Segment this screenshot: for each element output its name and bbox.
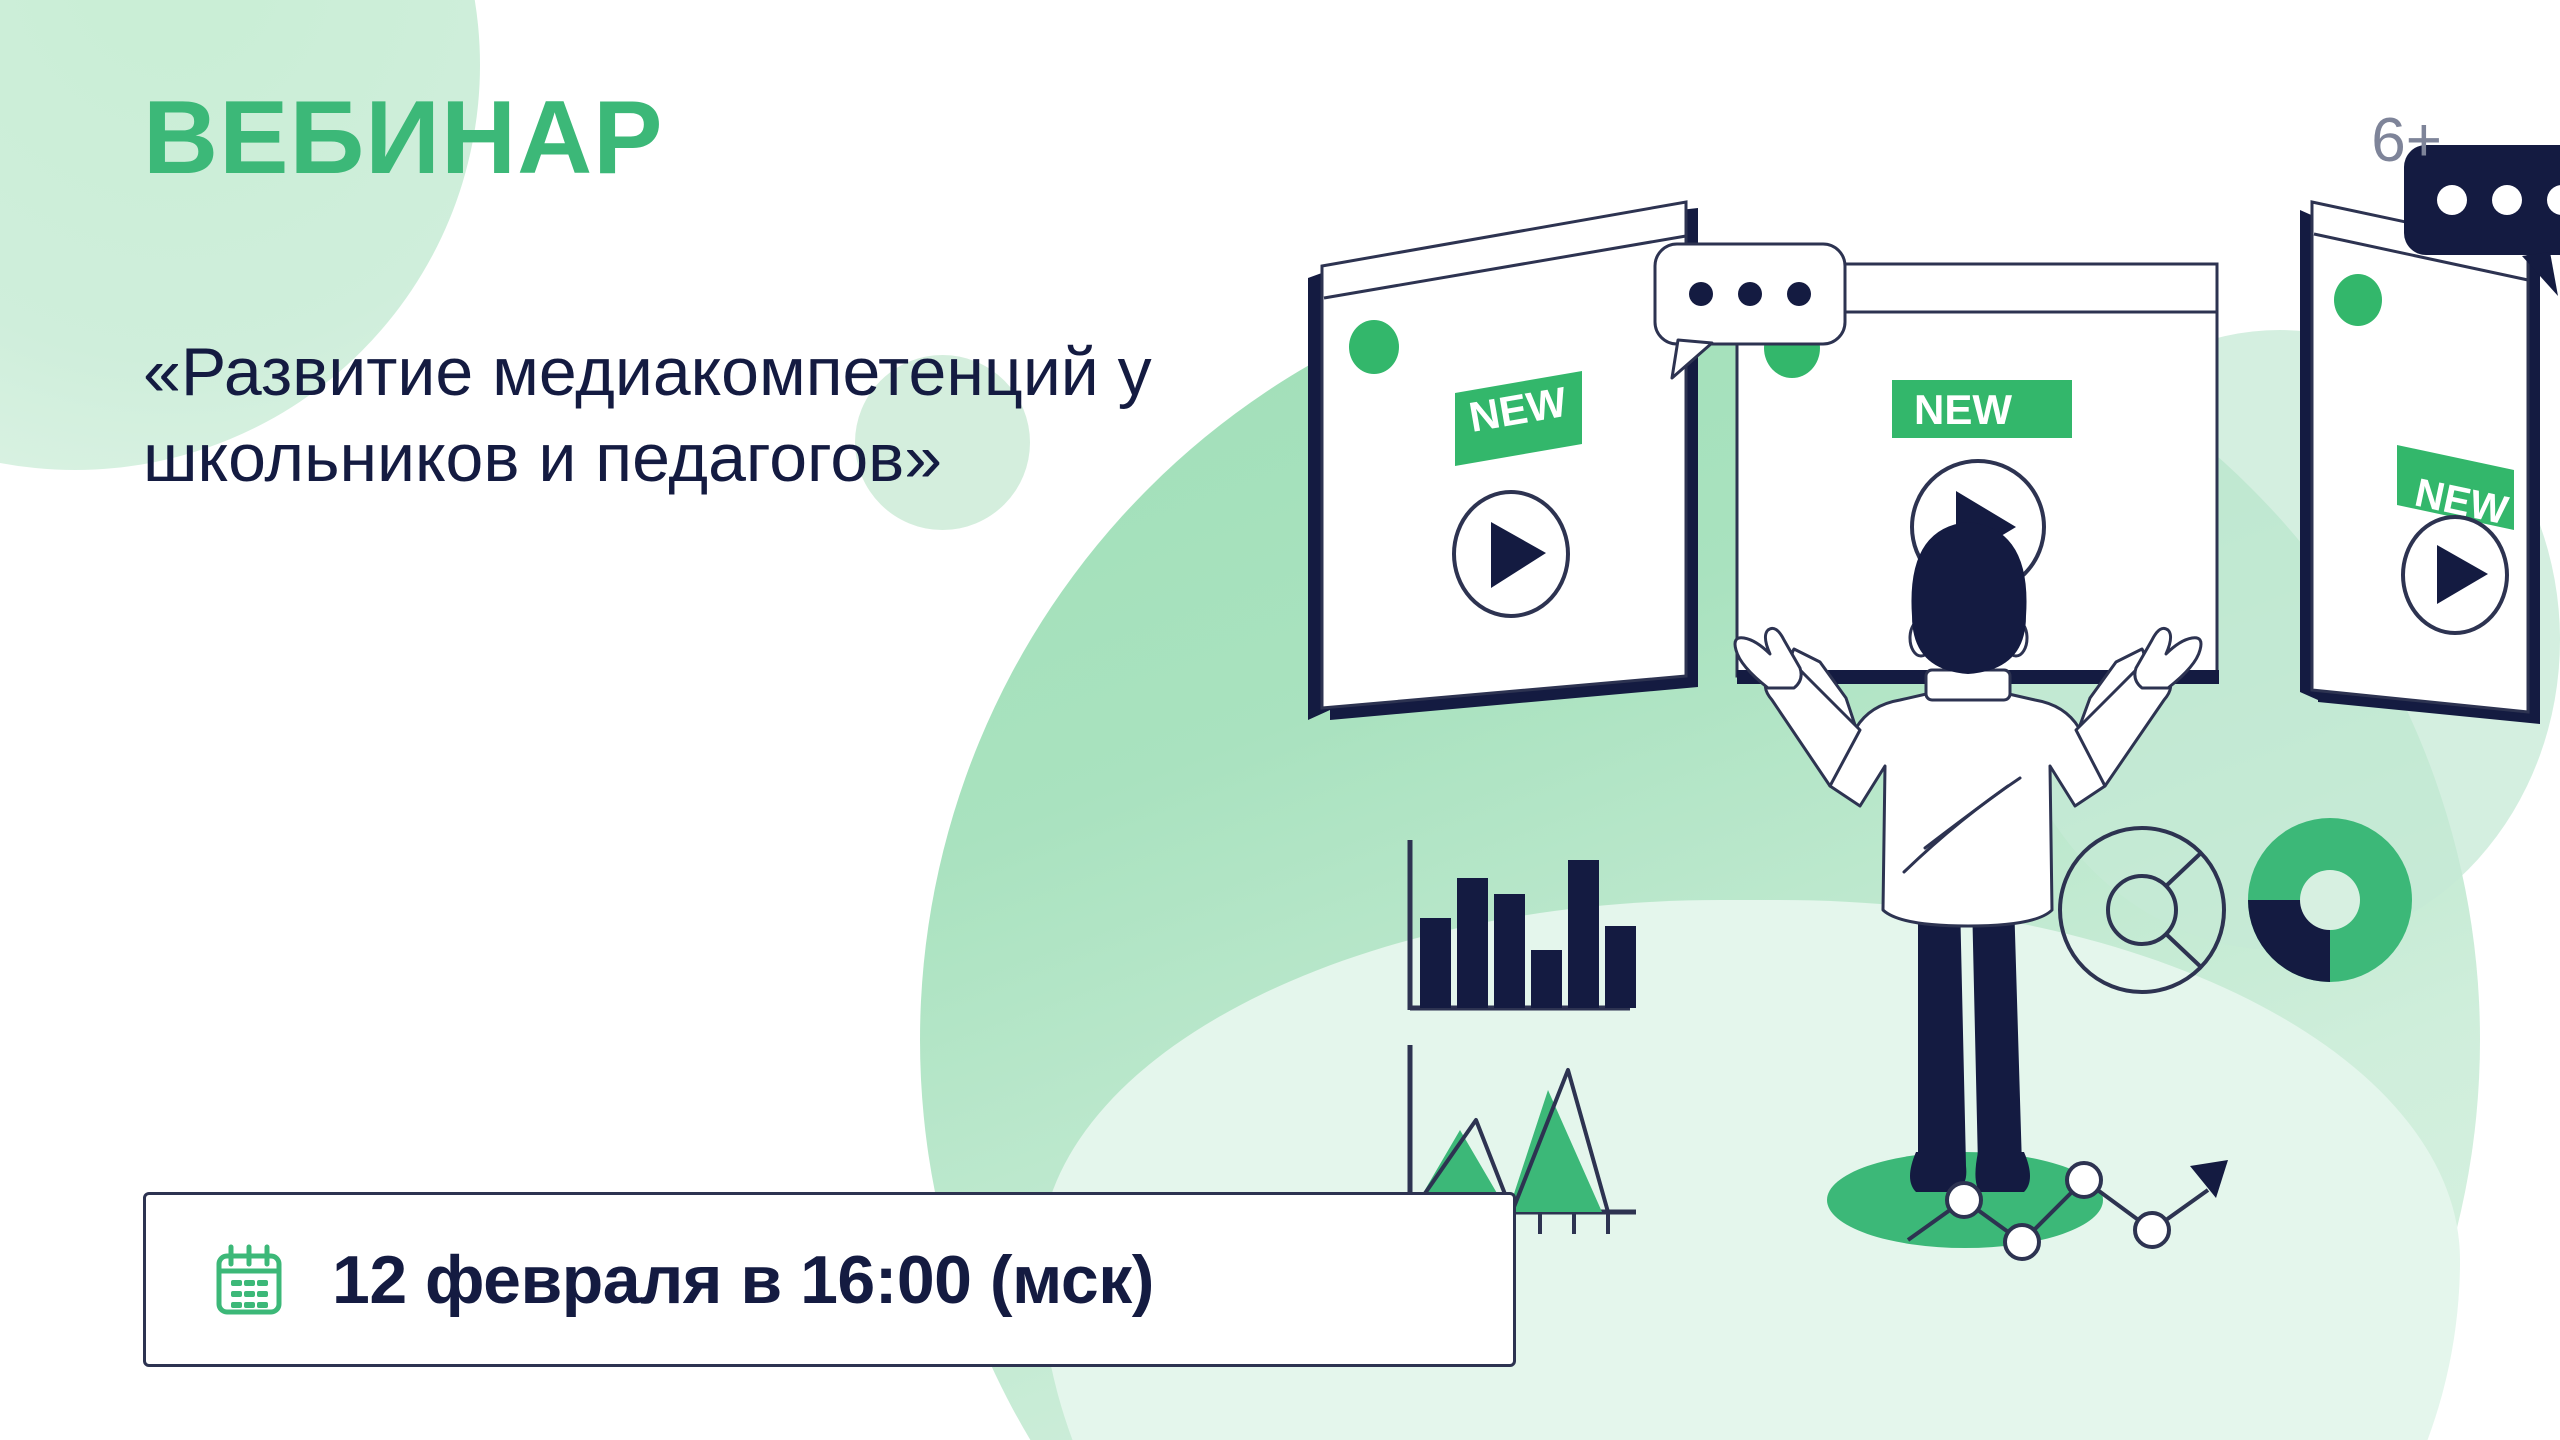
page-kicker: ВЕБИНАР	[143, 86, 664, 190]
event-date-text: 12 февраля в 16:00 (мск)	[332, 1241, 1154, 1319]
calendar-icon	[214, 1244, 284, 1316]
event-date-banner[interactable]: 12 февраля в 16:00 (мск)	[143, 1192, 1516, 1367]
webinar-poster: NEW NEW	[0, 0, 2560, 1440]
poster-text-content: ВЕБИНАР «Развитие медиакомпетенций у шко…	[0, 0, 2560, 1440]
page-title: «Развитие медиакомпетенций у школьников …	[143, 330, 1153, 501]
age-rating-badge: 6+	[2371, 110, 2442, 172]
